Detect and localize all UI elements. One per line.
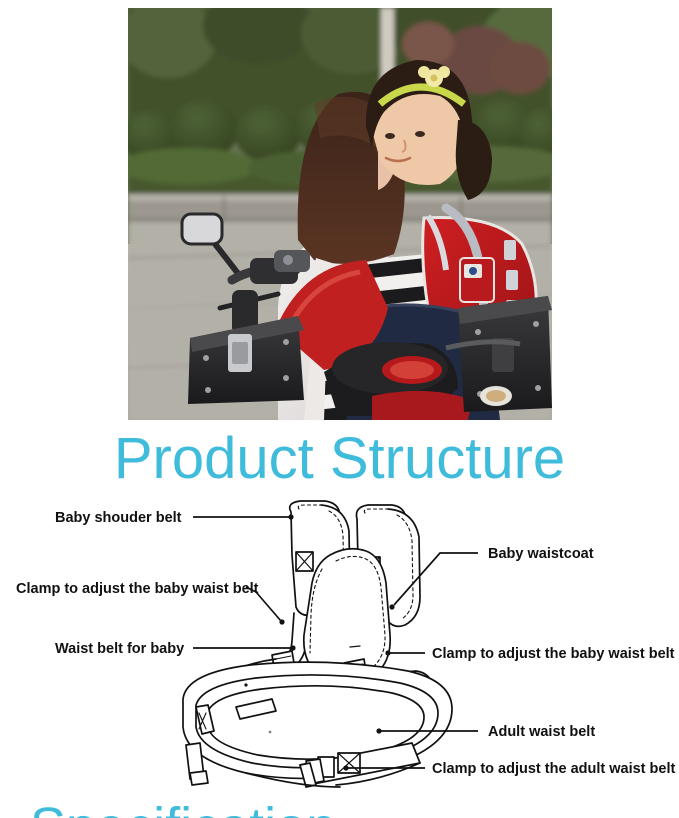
label-clamp-adult-waist-belt: Clamp to adjust the adult waist belt — [432, 761, 675, 777]
diagram-svg: Baby shouder belt Clamp to adjust the ba… — [0, 495, 679, 790]
label-baby-shoulder-belt: Baby shouder belt — [55, 510, 182, 526]
label-adult-waist-belt: Adult waist belt — [488, 724, 595, 740]
label-baby-waistcoat: Baby waistcoat — [488, 546, 594, 562]
next-section-heading-text: Specification — [0, 798, 679, 818]
next-section-heading-clipped: Specification — [0, 798, 679, 818]
product-photo — [128, 8, 552, 420]
page-title: Product Structure — [0, 428, 679, 490]
harness-line-drawing — [183, 501, 452, 787]
product-photo-image — [128, 8, 552, 420]
label-waist-belt-for-baby: Waist belt for baby — [55, 641, 184, 657]
label-clamp-baby-waist-right: Clamp to adjust the baby waist belt — [432, 646, 675, 662]
product-structure-diagram: Baby shouder belt Clamp to adjust the ba… — [0, 495, 679, 790]
label-clamp-baby-waist-left: Clamp to adjust the baby waist belt — [16, 581, 259, 597]
